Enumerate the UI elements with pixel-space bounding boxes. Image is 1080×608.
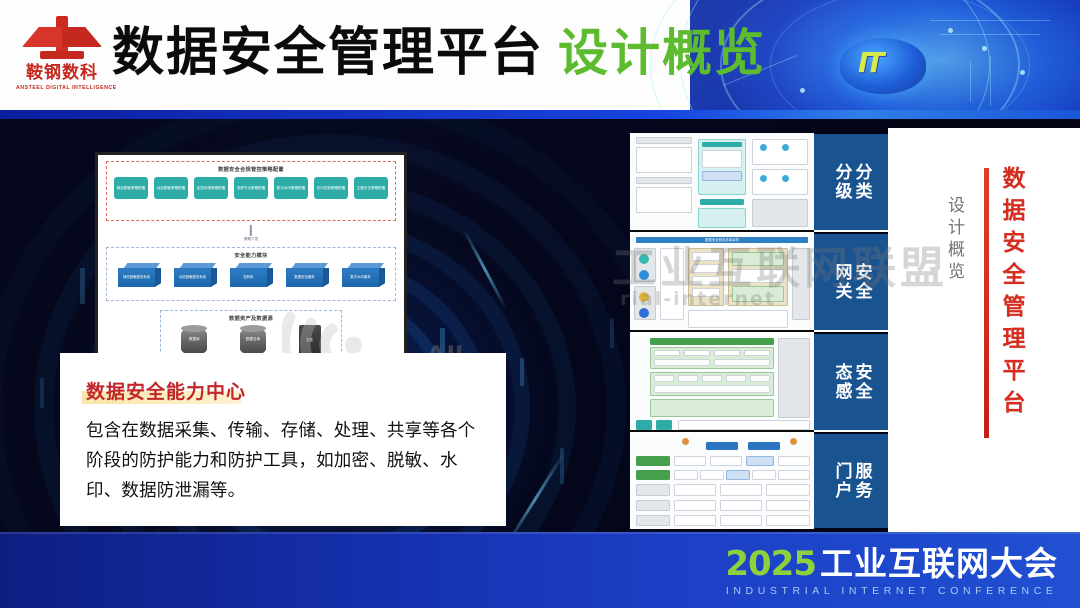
caption-title-wrap: 数据安全能力中心	[86, 377, 246, 404]
connector-label: 策略下发	[244, 237, 258, 242]
asset-section-title: 数据资产及数据源	[161, 315, 341, 322]
page-title: 数据安全管理平台 设计概览	[112, 22, 766, 84]
screenshot-service-portal[interactable]	[630, 434, 814, 529]
policy-dispatch-connector: 策略下发	[244, 225, 258, 242]
capability-cube: 静态脱敏服务系统	[118, 263, 160, 287]
capability-cube: 数字水印服务	[342, 263, 384, 287]
category-label-line1: 安全	[852, 263, 871, 301]
capability-cube-row: 静态脱敏服务系统 动态脱敏服务系统 密码机 数据安全服务 数字水印服务	[107, 263, 395, 287]
conference-logo: 2025 工业互联网大会 INDUSTRIAL INTERNET CONFERE…	[725, 546, 1058, 597]
category-label-line2: 分级	[832, 163, 851, 201]
logo-chinese-name: 鞍钢数科	[16, 63, 108, 83]
capability-cube-label: 密码机	[230, 268, 267, 287]
caption-panel: 数据安全能力中心 包含在数据采集、传输、存储、处理、共享等各个阶段的防护能力和防…	[60, 353, 506, 526]
conference-year: 2025	[725, 546, 816, 582]
capability-module-section: 安全能力模块 静态脱敏服务系统 动态脱敏服务系统 密码机 数据安全服务	[106, 247, 396, 301]
slide-header: IT 鞍钢数科 ANSTEEL DIGITAL INTELLIGENCE 数据安…	[0, 0, 1080, 118]
it-glyph-badge	[840, 38, 926, 94]
policy-tile: 静态脱敏策略配置	[114, 177, 148, 199]
anshan-steel-mark-icon	[16, 14, 108, 62]
policy-tile: 加密存储策略配置	[194, 177, 228, 199]
caption-body: 包含在数据采集、传输、存储、处理、共享等各个阶段的防护能力和防护工具，如加密、脱…	[86, 416, 480, 506]
screenshot-classification[interactable]	[630, 133, 814, 232]
side-title-rule	[984, 168, 989, 438]
capability-cube-label: 数字水印服务	[342, 268, 379, 287]
screenshot-situation-awareness[interactable]	[630, 334, 814, 432]
category-label-line1: 分类	[852, 163, 871, 201]
asset-label: 数据仓库	[240, 337, 266, 342]
capability-cube-label: 动态脱敏服务系统	[174, 268, 211, 287]
caption-title: 数据安全能力中心	[86, 381, 246, 403]
side-title-platform: 数据安全管理平台	[998, 166, 1024, 422]
company-logo: 鞍钢数科 ANSTEEL DIGITAL INTELLIGENCE	[16, 14, 108, 106]
category-situation-awareness[interactable]: 态感 安全	[814, 334, 888, 432]
screenshot-header-bar: 数据安全网关总体架构	[636, 237, 808, 243]
category-label-line1: 服务	[852, 462, 871, 500]
asset-item-row: 数据库 数据仓库 文件	[161, 325, 341, 355]
page-title-main: 数据安全管理平台	[112, 22, 544, 84]
side-title-overview: 设计概览	[944, 196, 964, 284]
category-column: 分级 分类 网关 安全 态感 安全 门户 服务	[814, 134, 888, 528]
capability-cube: 密码机	[230, 263, 272, 287]
capability-cube: 数据安全服务	[286, 263, 328, 287]
file-store-icon: 文件	[299, 325, 321, 355]
category-classification[interactable]: 分级 分类	[814, 134, 888, 232]
capability-cube-label: 数据安全服务	[286, 268, 323, 287]
header-divider-bar	[0, 110, 1080, 119]
policy-tile: 主题安全策略配置	[354, 177, 388, 199]
architecture-screenshot-grid: 数据安全网关总体架构	[630, 133, 814, 529]
slide-footer: 2025 工业互联网大会 INDUSTRIAL INTERNET CONFERE…	[0, 532, 1080, 608]
capability-center-diagram: 数据安全合规管控策略配置 静态脱敏策略配置 动态脱敏策略配置 加密存储策略配置 …	[95, 152, 407, 369]
capability-cube: 动态脱敏服务系统	[174, 263, 216, 287]
asset-label: 文件	[306, 338, 313, 343]
category-label-line2: 态感	[832, 363, 851, 401]
conference-name-en: INDUSTRIAL INTERNET CONFERENCE	[725, 585, 1058, 597]
policy-tile: 数字水印策略配置	[274, 177, 308, 199]
it-glyph-label: IT	[858, 46, 882, 79]
page-title-accent: 设计概览	[558, 22, 766, 84]
category-label-line2: 门户	[832, 462, 851, 500]
policy-tile: 动态脱敏策略配置	[154, 177, 188, 199]
data-warehouse-icon: 数据仓库	[240, 325, 266, 355]
category-label-line1: 安全	[852, 363, 871, 401]
capability-cube-label: 静态脱敏服务系统	[118, 268, 155, 287]
category-gateway[interactable]: 网关 安全	[814, 234, 888, 332]
logo-english-name: ANSTEEL DIGITAL INTELLIGENCE	[16, 85, 108, 91]
capability-section-title: 安全能力模块	[107, 252, 395, 259]
policy-config-section: 数据安全合规管控策略配置 静态脱敏策略配置 动态脱敏策略配置 加密存储策略配置 …	[106, 161, 396, 221]
policy-section-title: 数据安全合规管控策略配置	[107, 166, 395, 173]
category-service-portal[interactable]: 门户 服务	[814, 434, 888, 528]
policy-tile: 流程节点策略配置	[234, 177, 268, 199]
database-icon: 数据库	[181, 325, 207, 355]
policy-tile-row: 静态脱敏策略配置 动态脱敏策略配置 加密存储策略配置 流程节点策略配置 数字水印…	[107, 177, 395, 199]
asset-label: 数据库	[181, 337, 207, 342]
policy-tile: 访问控制策略配置	[314, 177, 348, 199]
conference-name-cn: 工业互联网大会	[820, 546, 1058, 582]
screenshot-gateway[interactable]: 数据安全网关总体架构	[630, 234, 814, 332]
slide-root: AII IT 鞍钢数科 ANSTEEL	[0, 0, 1080, 608]
category-label-line2: 网关	[832, 263, 851, 301]
